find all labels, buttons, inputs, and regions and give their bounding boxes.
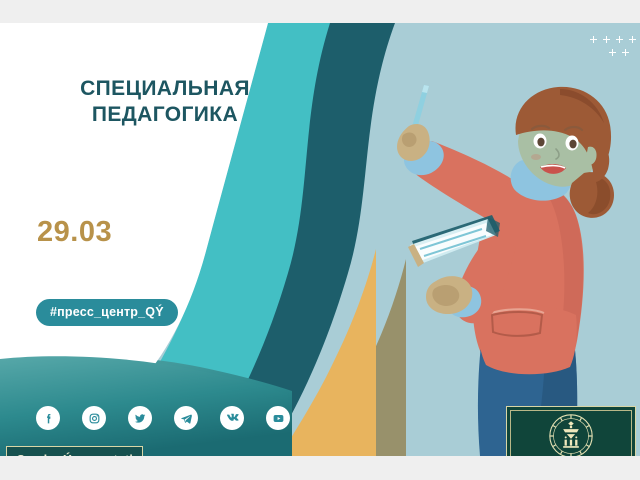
presentation-slide: СПЕЦИАЛЬНАЯ ПЕДАГОГИКА 29.03 #пресс_цент… (0, 23, 640, 456)
event-date: 29.03 (37, 216, 112, 249)
cheek (531, 154, 541, 160)
university-seal-icon (548, 413, 594, 456)
youtube-icon (272, 412, 285, 425)
youtube-link[interactable] (266, 406, 290, 430)
plus-mark (590, 36, 597, 43)
twitter-link[interactable] (128, 406, 152, 430)
instagram-link[interactable] (82, 406, 106, 430)
telegram-icon (180, 412, 193, 425)
hashtag-badge[interactable]: #пресс_центр_QÝ (36, 299, 178, 326)
plus-mark (609, 49, 616, 56)
university-logo-box: www.kazmkpu.kz (506, 406, 636, 456)
telegram-link[interactable] (174, 406, 198, 430)
title-line-1: СПЕЦИАЛЬНАЯ (20, 76, 310, 102)
screenshot-stage: СПЕЦИАЛЬНАЯ ПЕДАГОГИКА 29.03 #пресс_цент… (0, 0, 640, 480)
vk-icon (225, 411, 239, 425)
plus-mark (616, 36, 623, 43)
plus-mark (622, 49, 629, 56)
instagram-icon (88, 412, 101, 425)
facebook-icon (42, 412, 55, 425)
social-links (36, 406, 290, 430)
facebook-link[interactable] (36, 406, 60, 430)
plus-mark (629, 36, 636, 43)
plus-mark (603, 36, 610, 43)
twitter-icon (134, 412, 147, 425)
university-name-label: Qyzdar Ýnıversıteti (16, 453, 133, 456)
vk-link[interactable] (220, 406, 244, 430)
university-name-plate: Qyzdar Ýnıversıteti (6, 446, 143, 456)
page-title: СПЕЦИАЛЬНАЯ ПЕДАГОГИКА (20, 76, 310, 127)
title-line-2: ПЕДАГОГИКА (20, 102, 310, 128)
